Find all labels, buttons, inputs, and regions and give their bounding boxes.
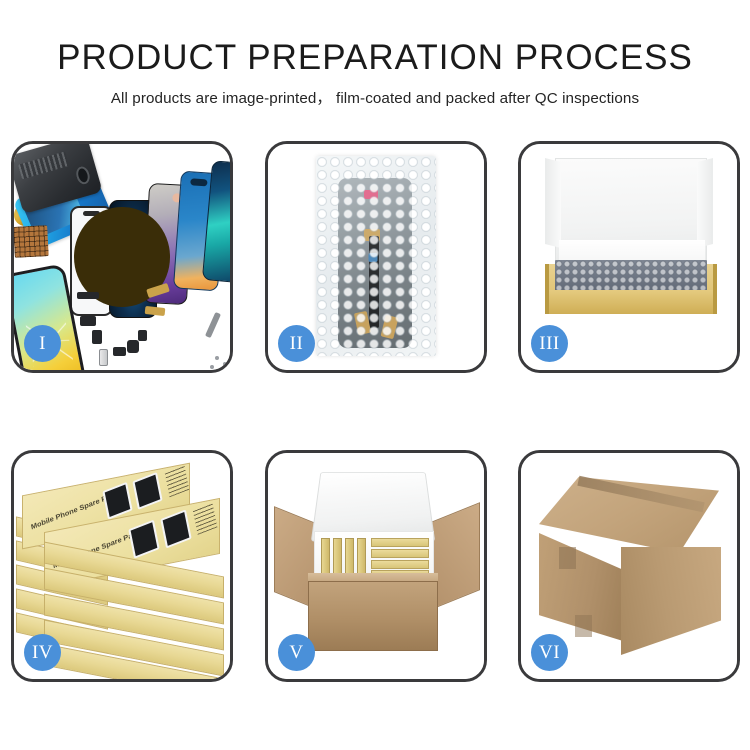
kraft-retail-box-icon <box>345 538 354 574</box>
flex-cable-strip-icon <box>369 236 379 328</box>
spec-text-lines <box>165 465 190 497</box>
flex-chip-icon <box>80 316 96 326</box>
step-badge-3: III <box>531 325 568 362</box>
bubble-wrap-fill-icon <box>555 260 707 294</box>
kraft-retail-box-icon <box>371 549 429 558</box>
step-badge-6: VI <box>531 634 568 671</box>
gold-connector-icon <box>380 315 398 339</box>
screw-icon <box>215 356 219 360</box>
kraft-retail-box-icon <box>333 538 342 574</box>
flex-chip-icon <box>77 292 99 299</box>
step-badge-5: V <box>278 634 315 671</box>
pink-tape-label-icon <box>364 190 378 199</box>
step-panel-5: V <box>265 450 487 682</box>
tweezers-icon <box>205 312 221 338</box>
kraft-tray-edge-left <box>545 264 549 314</box>
screw-icon <box>223 362 227 366</box>
step-panel-1: I <box>11 141 233 373</box>
flex-chip-icon <box>138 330 147 341</box>
kraft-retail-box-icon <box>357 538 366 574</box>
step-badge-4: IV <box>24 634 61 671</box>
screen-artwork-icon <box>160 509 191 548</box>
lid-flap-right <box>697 158 713 248</box>
step-panel-3: III <box>518 141 740 373</box>
kraft-retail-box-icon <box>321 538 330 574</box>
product-preparation-infographic: PRODUCT PREPARATION PROCESS All products… <box>0 0 750 750</box>
sealed-carton-right-face <box>621 547 721 655</box>
kraft-retail-box-icon <box>371 560 429 569</box>
page-subtitle: All products are image-printed， film-coa… <box>0 86 750 108</box>
screw-icon <box>210 365 214 369</box>
copper-contact-pad-icon <box>14 225 49 258</box>
step-badge-1: I <box>24 325 61 362</box>
lcd-screen-assembly-icon <box>338 178 412 348</box>
carton-body-icon <box>308 581 438 651</box>
lid-flap-left <box>545 158 561 248</box>
screen-artwork-icon <box>132 472 162 510</box>
screen-artwork-icon <box>128 520 159 559</box>
battery-cell-icon <box>99 349 108 366</box>
page-title: PRODUCT PREPARATION PROCESS <box>0 38 750 78</box>
carton-tab <box>559 547 576 569</box>
kraft-tray-front <box>545 290 717 314</box>
step-panel-4: Mobile Phone Spare Parts Mobile Phone Sp… <box>11 450 233 682</box>
kraft-retail-box-icon <box>371 538 429 547</box>
white-foam-liner-icon <box>314 531 434 579</box>
camera-module-icon <box>127 340 139 353</box>
step-badge-2: II <box>278 325 315 362</box>
spec-text-lines <box>193 502 218 535</box>
step-panel-6: VI <box>518 450 740 682</box>
step-panel-2: II <box>265 141 487 373</box>
flex-chip-icon <box>92 330 102 344</box>
driver-ic-icon <box>368 253 377 262</box>
flex-chip-icon <box>113 347 126 356</box>
screen-artwork-icon <box>102 482 132 520</box>
header: PRODUCT PREPARATION PROCESS All products… <box>0 0 750 128</box>
bubble-wrap-bag-icon <box>316 156 436 356</box>
kraft-tray-edge-right <box>713 264 717 314</box>
carton-tab <box>575 615 592 637</box>
